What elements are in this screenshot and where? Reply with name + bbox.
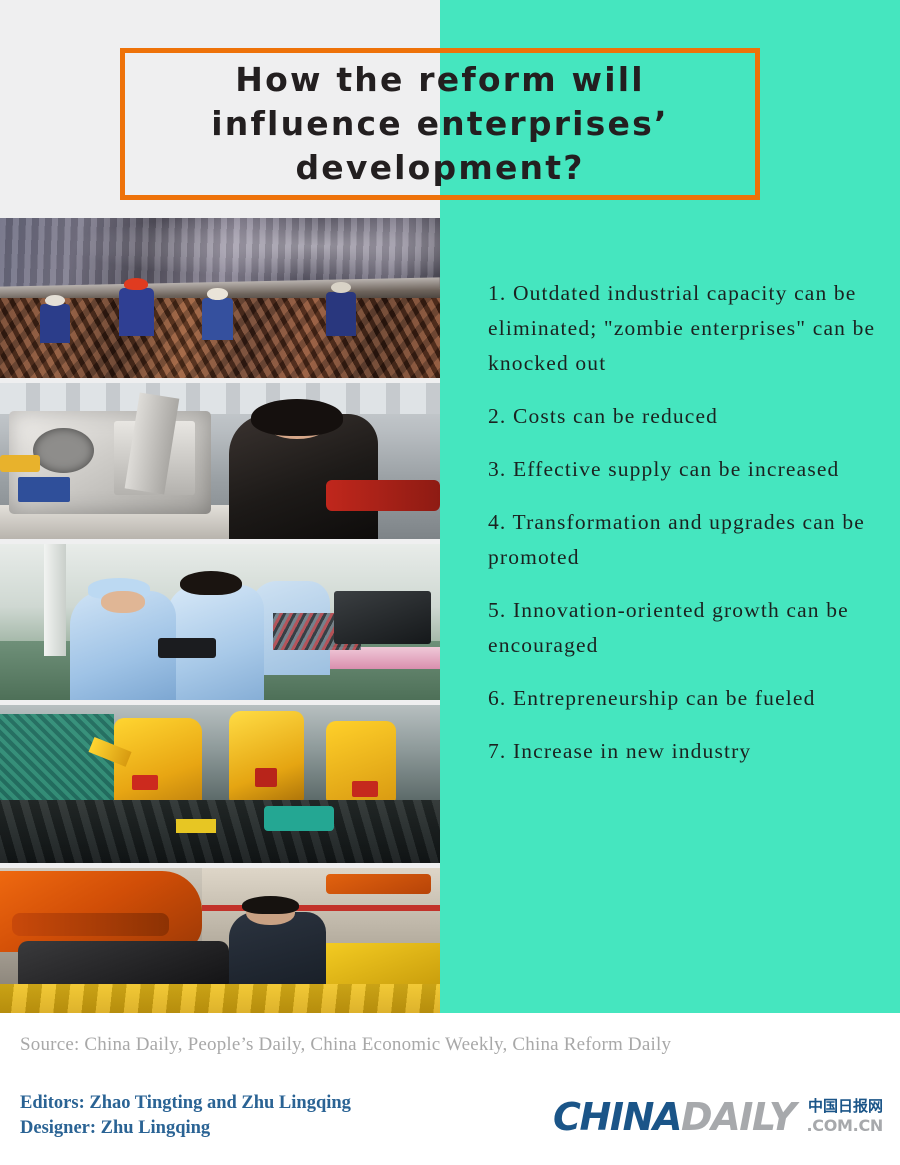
photo5-yellow-floor xyxy=(0,984,440,1013)
page-title: How the reform will influence enterprise… xyxy=(125,58,755,190)
photo1-worker-1 xyxy=(40,304,71,342)
photo3-device xyxy=(158,638,215,658)
list-item: 4. Transformation and upgrades can be pr… xyxy=(488,505,880,575)
photo3-worker-2-hair xyxy=(180,571,242,596)
photo-strip xyxy=(0,218,440,1013)
list-item: 3. Effective supply can be increased xyxy=(488,452,880,487)
logo-domain-text: .COM.CN xyxy=(775,1117,883,1135)
photo1-worker-3 xyxy=(202,298,233,340)
logo-china-text: CHINA xyxy=(553,1095,681,1139)
photo4-red-fixture-1 xyxy=(132,775,158,791)
photo5-robot-label-block xyxy=(326,874,432,894)
photo5-worker-hair xyxy=(242,896,299,915)
photo3-pillar xyxy=(44,544,66,656)
benefits-list: 1. Outdated industrial capacity can be e… xyxy=(488,276,880,769)
credits-block: Editors: Zhao Tingting and Zhu Lingqing … xyxy=(20,1091,351,1141)
photo-electronics-assembly xyxy=(0,544,440,700)
photo2-red-garment xyxy=(326,480,440,511)
photo-garment-factory xyxy=(0,383,440,539)
photo2-ceiling xyxy=(0,383,440,414)
photo4-red-fixture-3 xyxy=(352,781,378,797)
list-item: 7. Increase in new industry xyxy=(488,734,880,769)
photo1-worker-red-helmet xyxy=(119,288,154,336)
editors-line: Editors: Zhao Tingting and Zhu Lingqing xyxy=(20,1091,351,1116)
photo-kuka-robot-worker xyxy=(0,868,440,1013)
photo4-robot-1 xyxy=(114,718,202,813)
photo2-operator-hair xyxy=(251,399,343,436)
photo4-green-safety-net xyxy=(0,714,114,802)
photo4-teal-panel xyxy=(264,806,334,831)
photo4-yellow-box xyxy=(176,819,216,833)
photo-shipyard-scrap-steel xyxy=(0,218,440,378)
chinadaily-logo[interactable]: CHINADAILY 中国日报网 .COM.CN xyxy=(553,1097,883,1143)
photo4-red-fixture-2 xyxy=(255,768,277,787)
list-item: 5. Innovation-oriented growth can be enc… xyxy=(488,593,880,663)
photo2-blue-bin xyxy=(18,477,71,502)
photo4-robot-2 xyxy=(229,711,304,803)
list-item: 1. Outdated industrial capacity can be e… xyxy=(488,276,880,381)
list-item: 6. Entrepreneurship can be fueled xyxy=(488,681,880,716)
photo5-orange-robot-arm xyxy=(0,871,202,952)
designer-line: Designer: Zhu Lingqing xyxy=(20,1116,351,1141)
logo-chinese-characters: 中国日报网 xyxy=(775,1098,883,1115)
photo3-monitor xyxy=(334,591,431,644)
photo2-yellow-fabric xyxy=(0,455,40,472)
photo4-floor xyxy=(0,800,440,863)
title-box: How the reform will influence enterprise… xyxy=(120,48,760,200)
logo-wordmark: CHINADAILY xyxy=(553,1097,795,1137)
photo5-yellow-machine xyxy=(326,943,440,987)
source-line: Source: China Daily, People’s Daily, Chi… xyxy=(20,1034,671,1056)
photo-robot-welding-cell xyxy=(0,705,440,863)
infographic-poster: How the reform will influence enterprise… xyxy=(0,0,900,1165)
list-item: 2. Costs can be reduced xyxy=(488,399,880,434)
photo3-worker-1-face xyxy=(101,591,145,613)
photo1-worker-4 xyxy=(326,292,357,337)
